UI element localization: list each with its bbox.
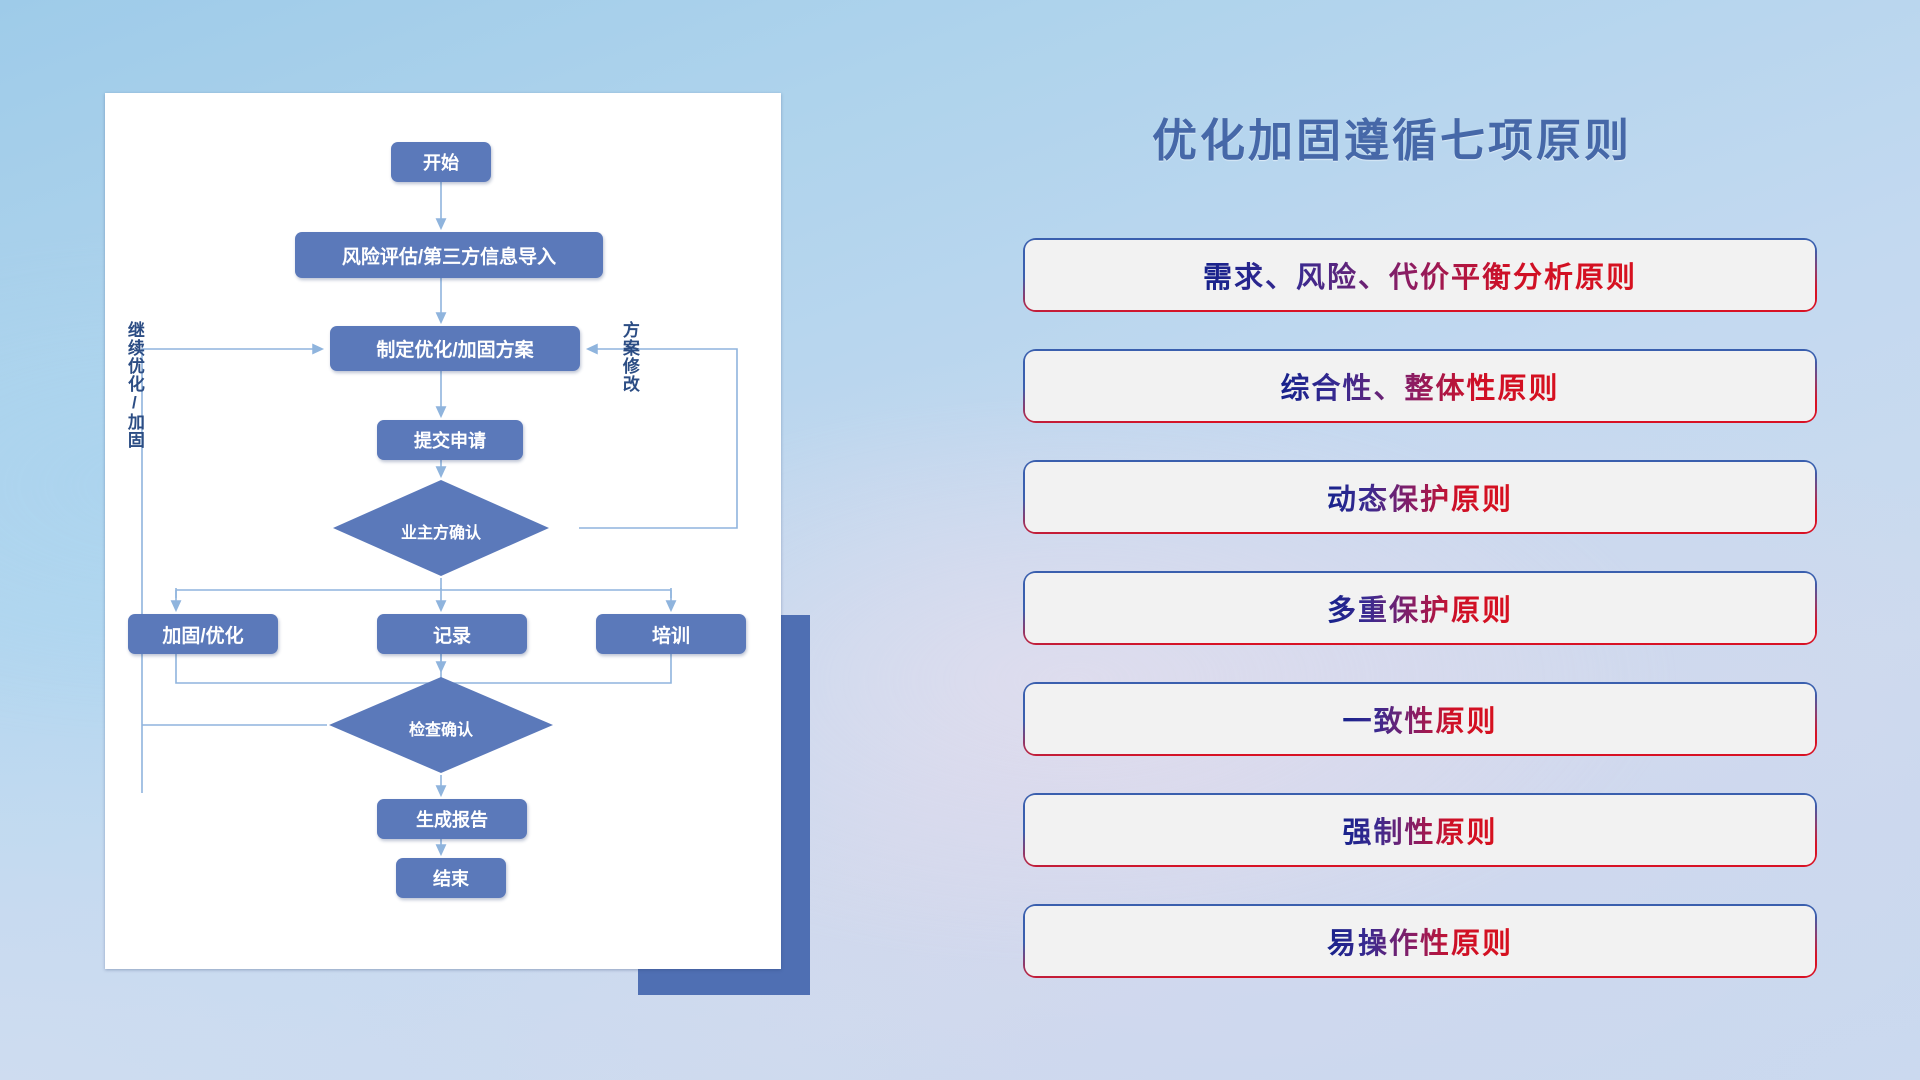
principle-card[interactable]: 强制性原则 [1025,795,1815,865]
principle-card-inner: 动态保护原则 [1025,462,1815,532]
flow-node-submit-application[interactable]: 提交申请 [377,420,523,460]
principle-card-label: 一致性原则 [1342,698,1497,740]
flowchart-panel: 开始 风险评估/第三方信息导入 制定优化/加固方案 提交申请 业主方确认 加固/… [105,93,781,969]
principle-card[interactable]: 多重保护原则 [1025,573,1815,643]
principle-card-label: 综合性、整体性原则 [1280,365,1559,407]
flow-node-risk-assessment[interactable]: 风险评估/第三方信息导入 [295,232,603,278]
principle-card[interactable]: 综合性、整体性原则 [1025,351,1815,421]
principle-card-inner: 一致性原则 [1025,684,1815,754]
principle-card-inner: 综合性、整体性原则 [1025,351,1815,421]
flow-node-end[interactable]: 结束 [396,858,506,898]
principle-card-inner: 需求、风险、代价平衡分析原则 [1025,240,1815,310]
principle-card[interactable]: 一致性原则 [1025,684,1815,754]
principles-panel: 优化加固遵循七项原则 需求、风险、代价平衡分析原则 综合性、整体性原则 动态保护… [1010,0,1920,1080]
principle-card[interactable]: 需求、风险、代价平衡分析原则 [1025,240,1815,310]
principle-card-label: 多重保护原则 [1327,587,1513,629]
page-title: 优化加固遵循七项原则 [1152,104,1632,169]
flow-node-start[interactable]: 开始 [391,142,491,182]
flow-label-continue-optimize: 继续优化/加固 [125,321,143,449]
principle-card-inner: 强制性原则 [1025,795,1815,865]
flow-node-reinforce-optimize[interactable]: 加固/优化 [128,614,278,654]
flow-node-inspection-confirm-label: 检查确认 [327,716,555,740]
flow-node-training[interactable]: 培训 [596,614,746,654]
principle-card-label: 需求、风险、代价平衡分析原则 [1203,254,1637,296]
flow-node-generate-report[interactable]: 生成报告 [377,799,527,839]
flow-label-plan-revision: 方案修改 [620,321,638,393]
principle-card-label: 动态保护原则 [1327,476,1513,518]
principle-card[interactable]: 易操作性原则 [1025,906,1815,976]
flow-node-owner-confirm-label: 业主方确认 [331,519,551,543]
principle-card-label: 强制性原则 [1342,809,1497,851]
principle-card[interactable]: 动态保护原则 [1025,462,1815,532]
principle-card-inner: 多重保护原则 [1025,573,1815,643]
flow-node-record[interactable]: 记录 [377,614,527,654]
principle-card-label: 易操作性原则 [1327,920,1513,962]
flow-node-make-plan[interactable]: 制定优化/加固方案 [330,326,580,371]
principle-card-inner: 易操作性原则 [1025,906,1815,976]
